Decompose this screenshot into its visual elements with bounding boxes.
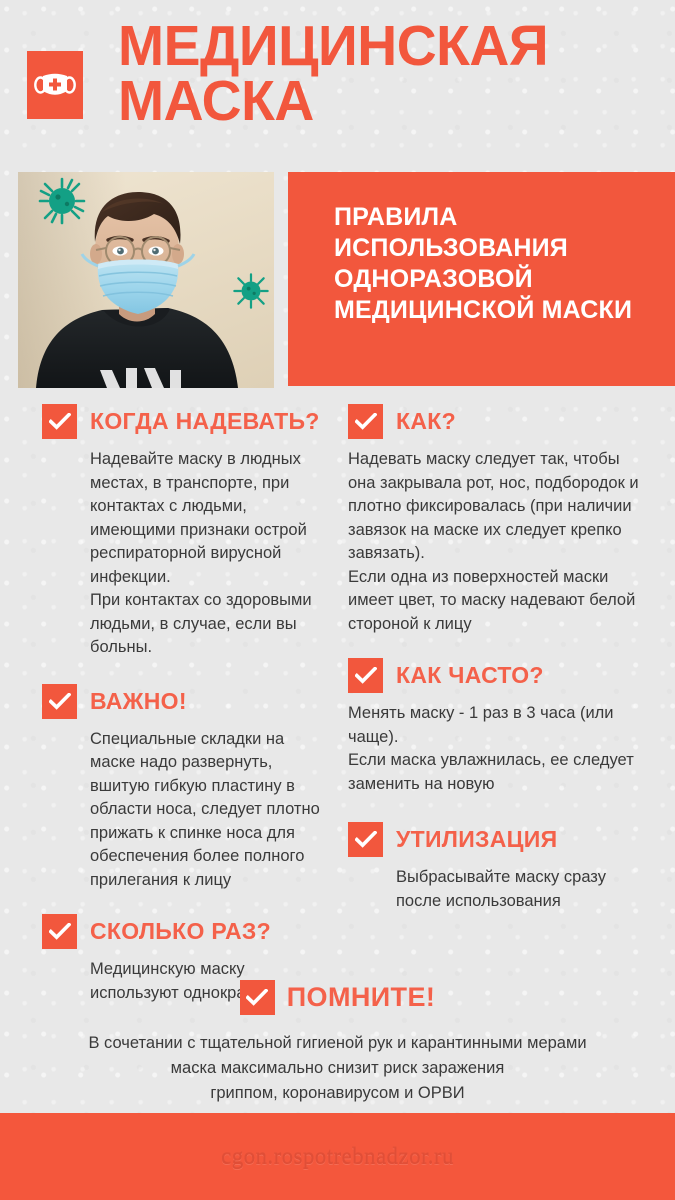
- poster-root: МЕДИЦИНСКАЯ МАСКА: [0, 0, 675, 1200]
- section-body: Выбрасывайте маску сразу после использов…: [348, 866, 648, 913]
- section-title: КАК ЧАСТО?: [396, 662, 544, 689]
- section-how-often: КАК ЧАСТО? Менять маску - 1 раз в 3 часа…: [348, 658, 648, 796]
- check-icon: [240, 980, 275, 1015]
- section-body: Менять маску - 1 раз в 3 часа (или чаще)…: [348, 702, 648, 796]
- section-body: Специальные складки на маске надо развер…: [42, 728, 332, 893]
- section-header: УТИЛИЗАЦИЯ: [348, 822, 648, 857]
- section-important: ВАЖНО! Специальные складки на маске надо…: [42, 684, 332, 893]
- virus-particle-icon: [38, 177, 86, 225]
- title-line-2: МАСКА: [118, 74, 647, 129]
- medical-mask-icon: [27, 51, 83, 119]
- section-title: ВАЖНО!: [90, 688, 187, 715]
- hero-panel-title: ПРАВИЛА ИСПОЛЬЗОВАНИЯ ОДНОРАЗОВОЙ МЕДИЦИ…: [334, 202, 661, 326]
- section-how: КАК? Надевать маску следует так, чтобы о…: [348, 404, 648, 636]
- section-title: КАК?: [396, 408, 456, 435]
- section-title: КОГДА НАДЕВАТЬ?: [90, 408, 320, 435]
- masked-person-photo: [18, 172, 274, 388]
- remember-section: ПОМНИТЕ! В сочетании с тщательной гигиен…: [0, 980, 675, 1106]
- check-icon: [42, 684, 77, 719]
- right-column: КАК? Надевать маску следует так, чтобы о…: [348, 404, 648, 923]
- section-title: УТИЛИЗАЦИЯ: [396, 826, 557, 853]
- virus-particle-icon-2: [232, 272, 270, 310]
- check-icon: [42, 914, 77, 949]
- section-disposal: УТИЛИЗАЦИЯ Выбрасывайте маску сразу посл…: [348, 822, 648, 913]
- section-when-to-wear: КОГДА НАДЕВАТЬ? Надевайте маску в людных…: [42, 404, 332, 660]
- section-body: Надевать маску следует так, чтобы она за…: [348, 448, 648, 636]
- title-line-1: МЕДИЦИНСКАЯ: [118, 19, 647, 74]
- remember-body: В сочетании с тщательной гигиеной рук и …: [0, 1031, 675, 1106]
- section-header: СКОЛЬКО РАЗ?: [42, 914, 332, 949]
- section-header: КОГДА НАДЕВАТЬ?: [42, 404, 332, 439]
- hero-section: ПРАВИЛА ИСПОЛЬЗОВАНИЯ ОДНОРАЗОВОЙ МЕДИЦИ…: [0, 172, 675, 388]
- check-icon: [42, 404, 77, 439]
- left-column: КОГДА НАДЕВАТЬ? Надевайте маску в людных…: [42, 404, 332, 1015]
- section-body: Надевайте маску в людных местах, в транс…: [42, 448, 332, 660]
- page-title: МЕДИЦИНСКАЯ МАСКА: [118, 19, 663, 129]
- poster-header: МЕДИЦИНСКАЯ МАСКА: [0, 0, 675, 152]
- remember-title: ПОМНИТЕ!: [287, 982, 436, 1013]
- footer-url[interactable]: cgon.rospotrebnadzor.ru: [221, 1144, 454, 1170]
- check-icon: [348, 822, 383, 857]
- section-header: КАК?: [348, 404, 648, 439]
- footer-bar: cgon.rospotrebnadzor.ru: [0, 1113, 675, 1200]
- check-icon: [348, 404, 383, 439]
- hero-title-panel: ПРАВИЛА ИСПОЛЬЗОВАНИЯ ОДНОРАЗОВОЙ МЕДИЦИ…: [288, 172, 675, 386]
- section-header: КАК ЧАСТО?: [348, 658, 648, 693]
- remember-header: ПОМНИТЕ!: [240, 980, 436, 1015]
- section-header: ВАЖНО!: [42, 684, 332, 719]
- check-icon: [348, 658, 383, 693]
- section-title: СКОЛЬКО РАЗ?: [90, 918, 271, 945]
